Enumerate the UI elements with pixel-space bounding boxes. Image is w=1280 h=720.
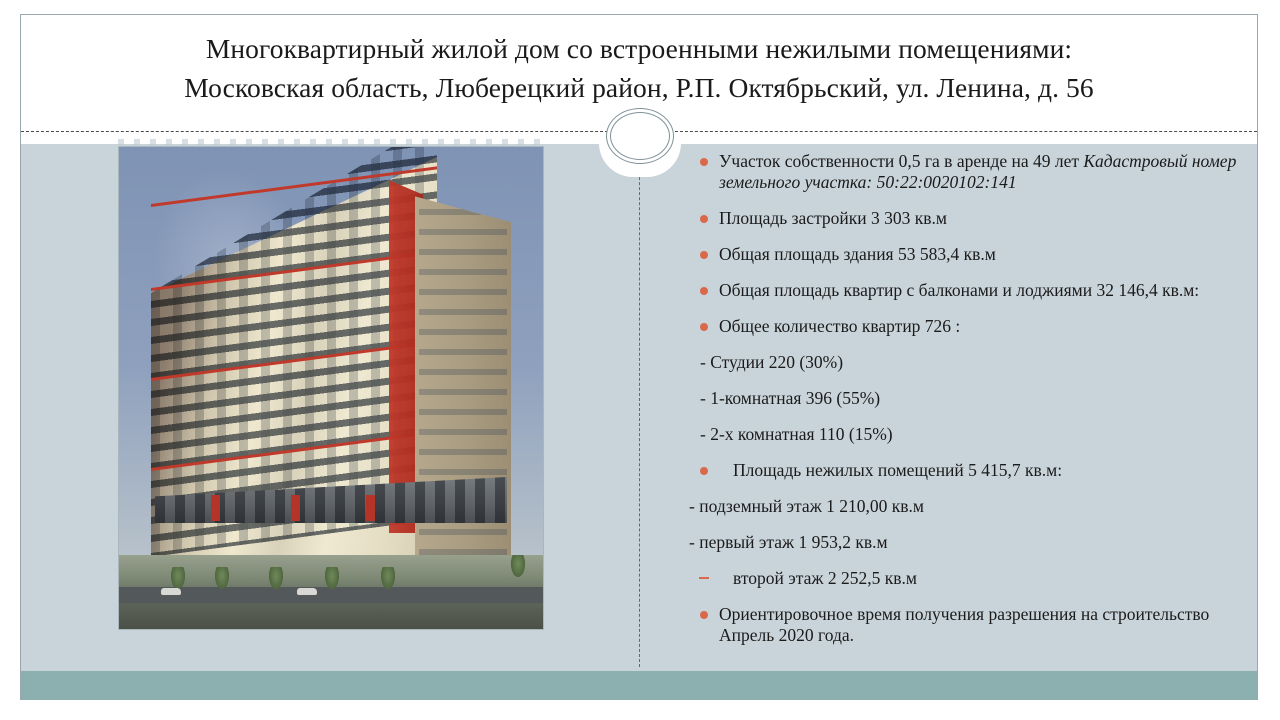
footer-bar (21, 671, 1257, 700)
list-item: - первый этаж 1 953,2 кв.м (681, 532, 1241, 553)
list-item-text: Участок собственности 0,5 га в аренде на… (719, 151, 1083, 171)
list-item: Общая площадь здания 53 583,4 кв.м (681, 244, 1241, 265)
car (161, 588, 181, 595)
list-item: Площадь нежилых помещений 5 415,7 кв.м: (681, 460, 1241, 481)
tree (171, 567, 185, 589)
list-item: Ориентировочное время получения разрешен… (681, 604, 1241, 646)
list-item: второй этаж 2 252,5 кв.м (681, 568, 1241, 589)
list-item: Площадь застройки 3 303 кв.м (681, 208, 1241, 229)
circle-inner-ring (610, 112, 670, 160)
building-render-image[interactable] (118, 146, 544, 630)
list-item: Общая площадь квартир с балконами и лодж… (681, 280, 1241, 301)
list-item: - подземный этаж 1 210,00 кв.м (681, 496, 1241, 517)
bullet-dash-icon (699, 577, 709, 579)
list-item: - Студии 220 (30%) (681, 352, 1241, 373)
list-item-text: Общее количество квартир 726 : (719, 316, 960, 336)
page-title: Многоквартирный жилой дом со встроенными… (21, 29, 1257, 107)
entrance-door (211, 495, 220, 521)
car (297, 588, 317, 595)
slide: Многоквартирный жилой дом со встроенными… (20, 14, 1258, 700)
bullet-dot-icon (700, 251, 708, 259)
building-mass (151, 157, 511, 557)
list-item: Участок собственности 0,5 га в аренде на… (681, 151, 1241, 193)
tree (381, 567, 395, 589)
title-line-1: Многоквартирный жилой дом со встроенными… (21, 29, 1257, 68)
entrance-door (291, 495, 300, 521)
list-item: - 1-комнатная 396 (55%) (681, 388, 1241, 409)
bullet-dot-icon (700, 158, 708, 166)
picture-guide-marks (118, 139, 544, 145)
list-item-text: Ориентировочное время получения разрешен… (719, 604, 1209, 645)
road (119, 587, 543, 603)
entrance-door (366, 495, 375, 521)
list-item: Общее количество квартир 726 : (681, 316, 1241, 337)
tree (215, 567, 229, 589)
list-item: - 2-х комнатная 110 (15%) (681, 424, 1241, 445)
tree (325, 567, 339, 589)
bullet-dot-icon (700, 323, 708, 331)
bullet-dot-icon (700, 215, 708, 223)
decorative-circle (606, 108, 674, 164)
bullet-dot-icon (700, 287, 708, 295)
list-item-text: Площадь застройки 3 303 кв.м (719, 208, 947, 228)
list-item-text: Общая площадь здания 53 583,4 кв.м (719, 244, 996, 264)
list-item-text: второй этаж 2 252,5 кв.м (733, 568, 917, 588)
list-item-text: Площадь нежилых помещений 5 415,7 кв.м: (733, 460, 1062, 480)
vertical-divider (639, 147, 640, 667)
specs-list: Участок собственности 0,5 га в аренде на… (681, 151, 1241, 661)
title-line-2: Московская область, Люберецкий район, Р.… (21, 68, 1257, 107)
tree (269, 567, 283, 589)
list-item-text: Общая площадь квартир с балконами и лодж… (719, 280, 1199, 300)
bullet-dot-icon (700, 611, 708, 619)
bullet-dot-icon (700, 467, 708, 475)
tree (511, 555, 525, 577)
